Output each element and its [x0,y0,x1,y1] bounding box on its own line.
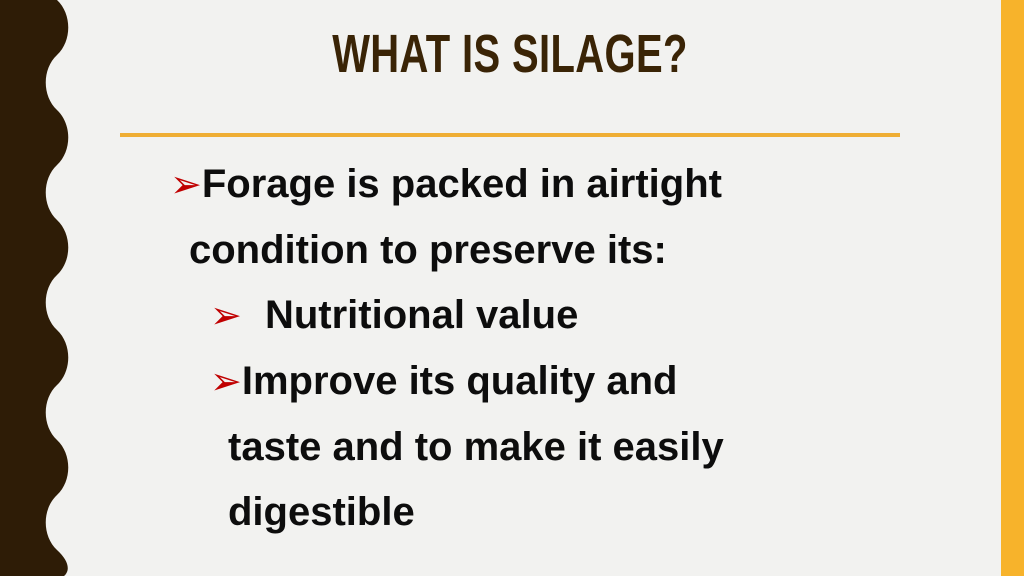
list-item-text: condition to preserve its: [189,228,667,272]
wavy-edge-shape [0,0,80,576]
list-item-text: Nutritional value [254,293,579,337]
list-item-text: Forage is packed in airtight [202,162,722,206]
list-item: ➢ Nutritional value [160,283,920,349]
slide-title: WHAT IS SILAGE? [221,26,798,82]
list-item-text: Improve its quality and [242,359,678,403]
list-item-continuation: taste and to make it easily [160,415,920,480]
arrow-bullet-icon: ➢ [210,284,242,349]
arrow-bullet-icon: ➢ [170,153,202,218]
list-item-text: taste and to make it easily [228,425,724,469]
title-divider-rule [120,133,900,137]
list-item: ➢Improve its quality and [160,349,920,415]
list-item-text: digestible [228,490,415,534]
list-item-continuation: digestible [160,480,920,545]
bullet-list: ➢Forage is packed in airtight condition … [160,152,920,545]
arrow-bullet-icon: ➢ [210,350,242,415]
right-orange-accent-bar [1001,0,1024,576]
left-wavy-band-decoration [0,0,80,576]
list-item-continuation: condition to preserve its: [160,218,920,283]
list-item: ➢Forage is packed in airtight [160,152,920,218]
slide-canvas: WHAT IS SILAGE? ➢Forage is packed in air… [0,0,1024,576]
